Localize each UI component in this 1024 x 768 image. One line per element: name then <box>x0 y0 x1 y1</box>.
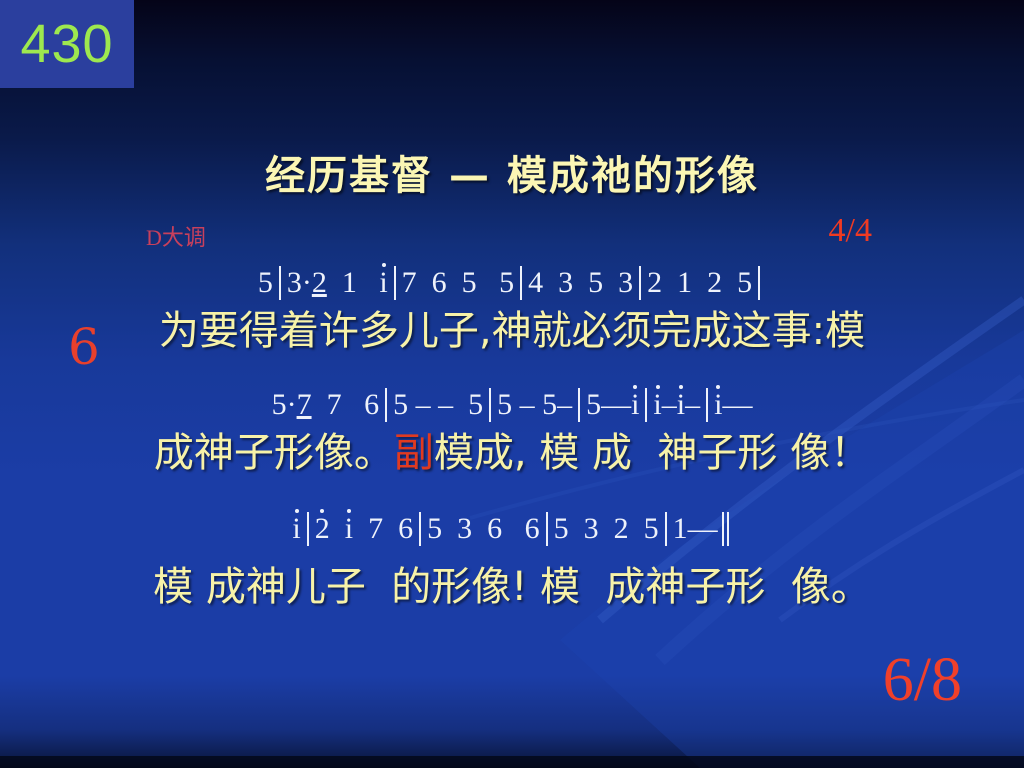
notation-line-2: 5·7 7 65 – – 55 – 5–5––ii–i–i–– <box>0 388 1024 422</box>
hymn-number-text: 430 <box>20 17 113 71</box>
time-signature-bottom: 6/8 <box>883 645 962 716</box>
chorus-marker: 副 <box>394 430 434 476</box>
background-swoosh-decoration <box>0 0 1024 768</box>
notation-line-1: 53·2 1 i7 6 5 54 3 5 32 1 2 5 <box>0 266 1024 300</box>
lyrics-line-3: 模 成神儿子 的形像! 模 成神子形 像。 <box>0 566 1024 608</box>
lyrics-line-2-pre: 成神子形像。 <box>154 430 394 476</box>
slide-canvas: 430 经历基督 — 模成祂的形像 D大调 4/4 6 53·2 1 i7 6 … <box>0 0 1024 768</box>
lyrics-line-1: 为要得着许多儿子,神就必须完成这事:模 <box>0 310 1024 352</box>
page-title: 经历基督 — 模成祂的形像 <box>0 143 1024 201</box>
lyrics-line-2-post: 模成, 模 成 神子形 像！ <box>434 430 870 476</box>
lyrics-line-2: 成神子形像。副模成, 模 成 神子形 像！ <box>0 432 1024 474</box>
hymn-number-badge: 430 <box>0 0 134 88</box>
key-signature-label: D大调 <box>146 220 206 252</box>
time-signature-top: 4/4 <box>829 212 872 250</box>
music-system-2: 5·7 7 65 – – 55 – 5–5––ii–i–i–– 成神子形像。副模… <box>0 388 1024 474</box>
music-system-1: 53·2 1 i7 6 5 54 3 5 32 1 2 5 为要得着许多儿子,神… <box>0 266 1024 352</box>
notation-line-3: i2 i 7 65 3 6 65 3 2 51–– <box>0 512 1024 552</box>
music-system-3: i2 i 7 65 3 6 65 3 2 51–– 模 成神儿子 的形像! 模 … <box>0 512 1024 608</box>
